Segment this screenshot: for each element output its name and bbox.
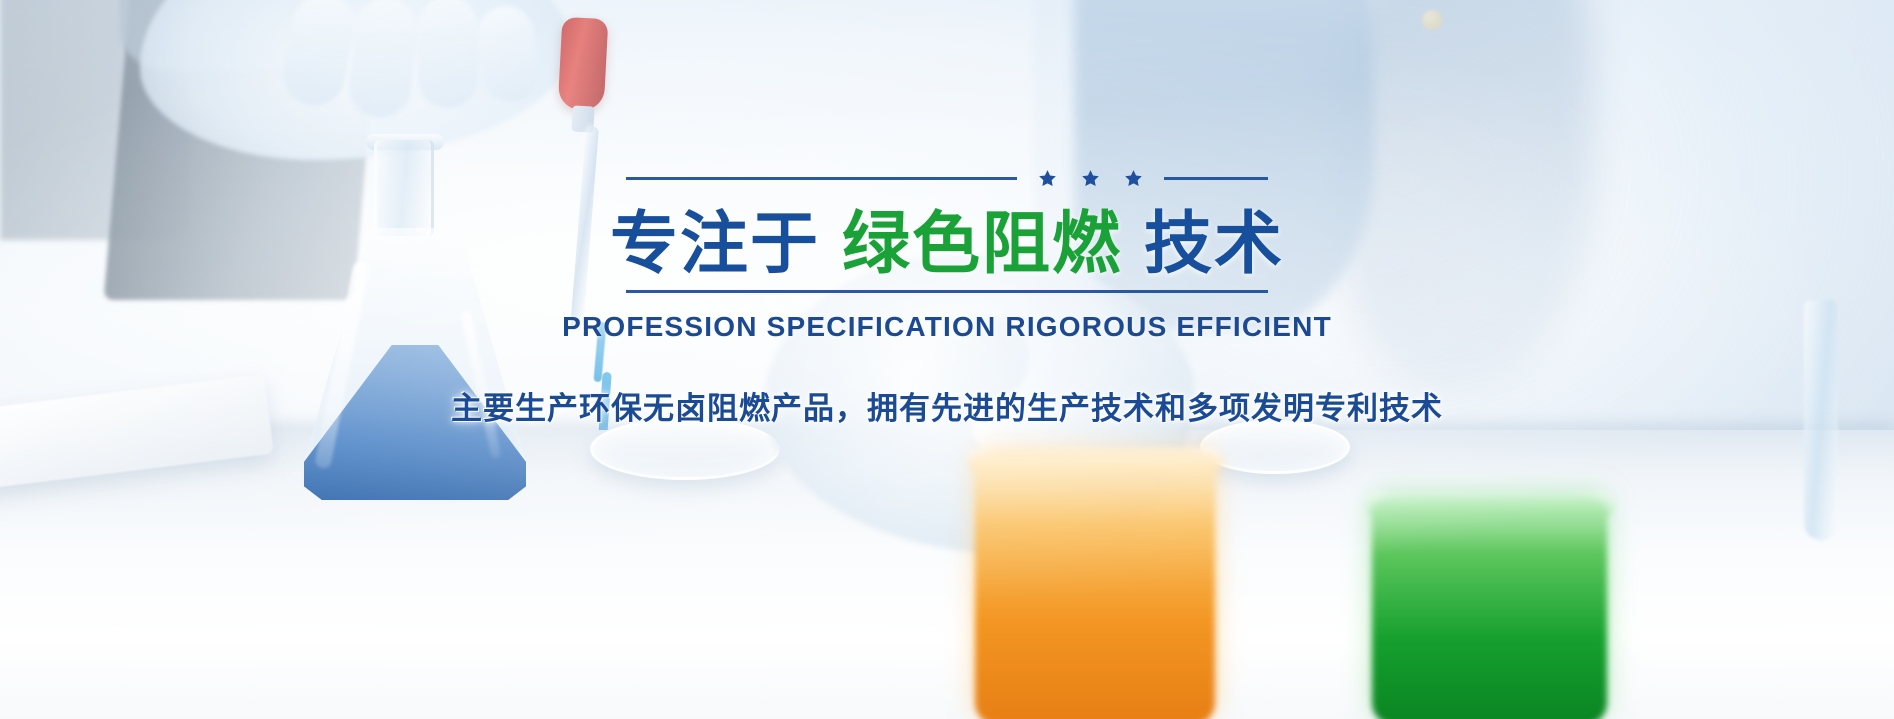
divider-stars [1031, 168, 1150, 189]
headline: 专注于绿色阻燃技术 [610, 209, 1284, 280]
divider-rule-right [1164, 177, 1268, 180]
star-icon [1037, 168, 1058, 189]
subtitle: PROFESSION SPECIFICATION RIGOROUS EFFICI… [562, 311, 1332, 343]
star-icon [1123, 168, 1144, 189]
banner-content: 专注于绿色阻燃技术 PROFESSION SPECIFICATION RIGOR… [0, 0, 1894, 719]
star-icon [1080, 168, 1101, 189]
headline-underbar [626, 290, 1268, 293]
divider-rule-left [626, 177, 1017, 180]
headline-part-3: 技术 [1144, 206, 1284, 282]
star-divider [626, 168, 1268, 189]
headline-part-1: 专注于 [610, 206, 820, 282]
headline-part-2: 绿色阻燃 [842, 206, 1122, 282]
tagline: 主要生产环保无卤阻燃产品，拥有先进的生产技术和多项发明专利技术 [451, 383, 1443, 428]
hero-banner: 专注于绿色阻燃技术 PROFESSION SPECIFICATION RIGOR… [0, 0, 1894, 719]
